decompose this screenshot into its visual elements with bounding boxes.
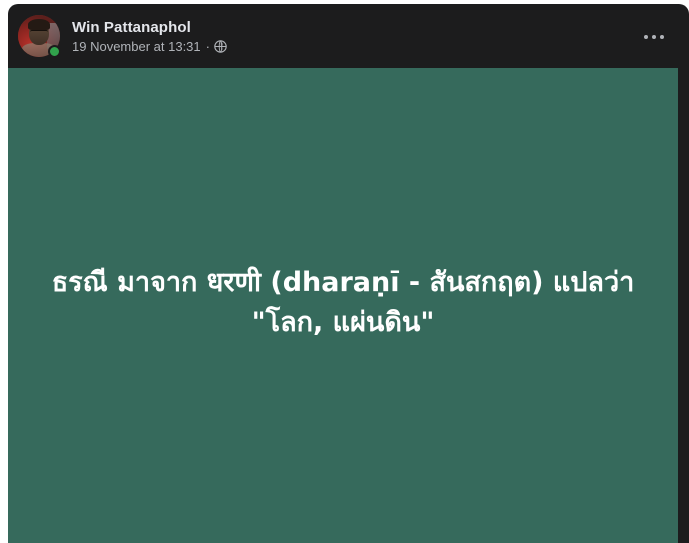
post-timestamp[interactable]: 19 November at 13:31 xyxy=(72,39,201,55)
avatar[interactable] xyxy=(18,15,60,57)
ellipsis-dot xyxy=(660,35,664,39)
online-status-dot xyxy=(48,45,61,58)
globe-icon[interactable] xyxy=(214,40,227,53)
post-card: Win Pattanaphol 19 November at 13:31 · xyxy=(8,4,689,543)
post-options-button[interactable] xyxy=(637,24,671,50)
meta-separator: · xyxy=(206,39,210,55)
avatar-photo-hair xyxy=(28,19,50,30)
ellipsis-dot xyxy=(652,35,656,39)
post-image-text: ธรณี มาจาก धरणी (dharaṇī - สันสกฤต) แปลว… xyxy=(43,263,643,349)
post-image-text-line-1: ธรณี มาจาก धरणी (dharaṇī - สันสกฤต) แปลว… xyxy=(52,267,635,298)
post-image[interactable]: ธรณี มาจาก धरणी (dharaṇī - สันสกฤต) แปลว… xyxy=(8,68,678,543)
post-meta: 19 November at 13:31 · xyxy=(72,39,227,55)
ellipsis-dot xyxy=(644,35,648,39)
post-image-text-line-2: "โลก, แผ่นดิน" xyxy=(43,303,643,343)
post-header-text: Win Pattanaphol 19 November at 13:31 · xyxy=(72,18,227,55)
author-name[interactable]: Win Pattanaphol xyxy=(72,18,227,37)
avatar-photo-glasses xyxy=(30,30,48,36)
post-header: Win Pattanaphol 19 November at 13:31 · xyxy=(8,4,689,68)
